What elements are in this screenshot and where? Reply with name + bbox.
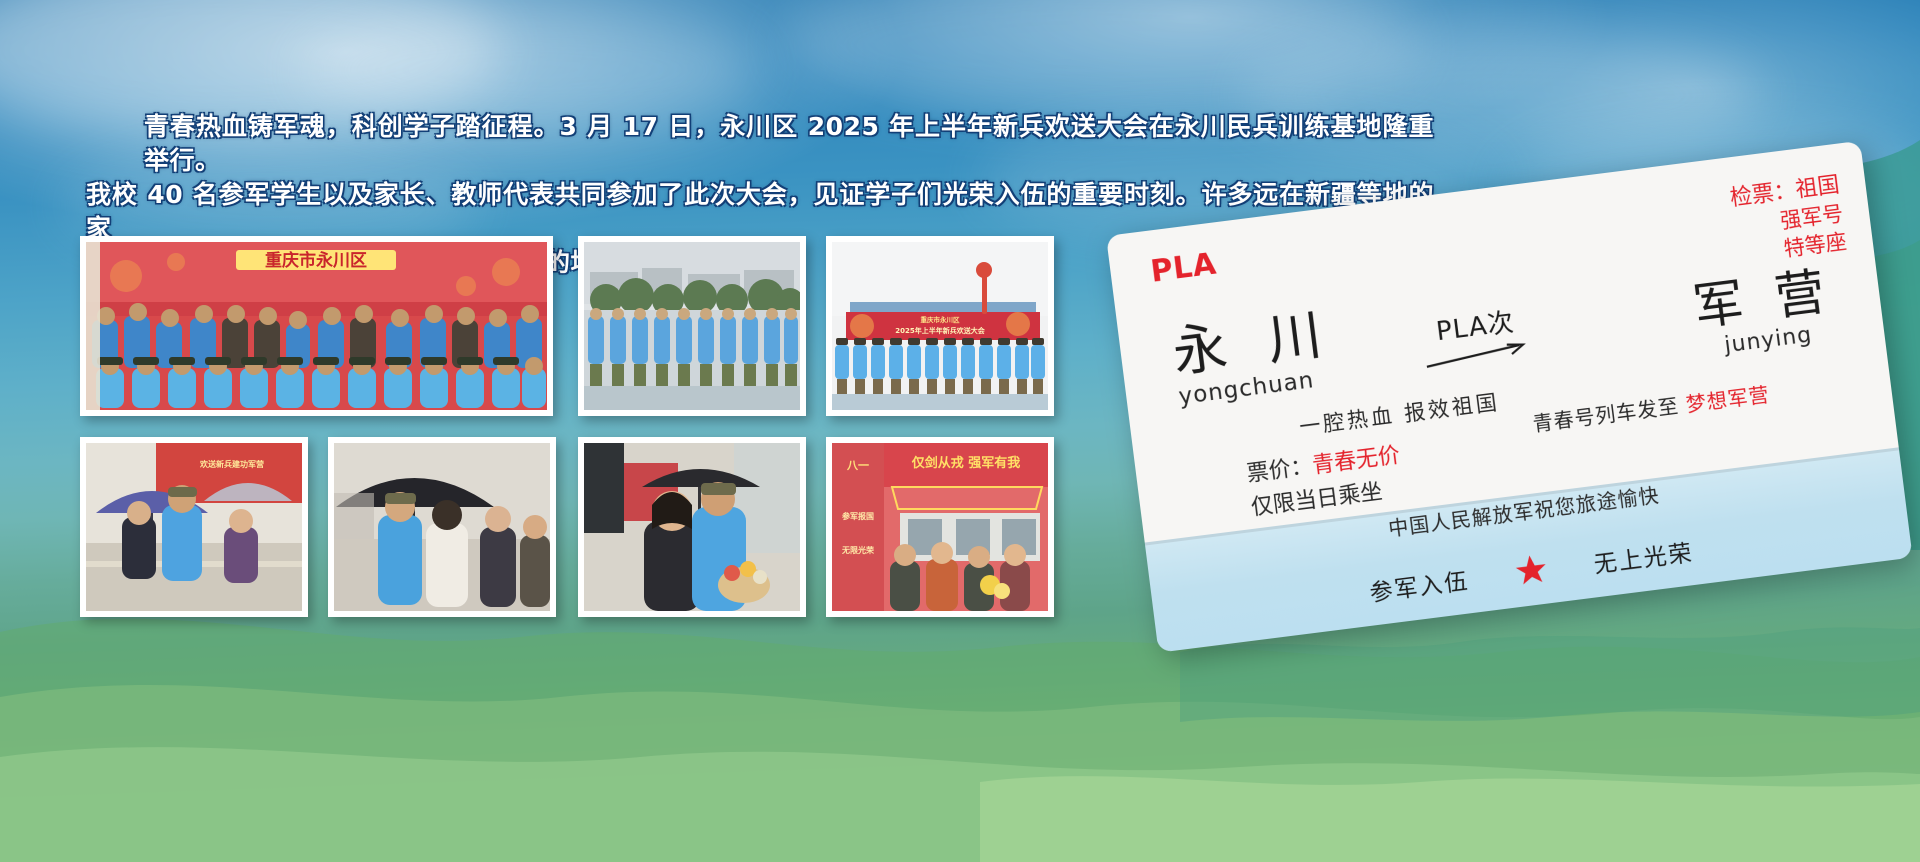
photo-couple-embrace[interactable] [578,437,806,617]
photo-farewell-blue-umbrella[interactable]: 欢送新兵建功军营 [80,437,308,617]
ticket-route-dest: 梦想军营 [1685,382,1771,416]
svg-text:2025年上半年新兵欢送大会: 2025年上半年新兵欢送大会 [895,326,985,335]
ticket-route-prefix: 青春号列车发至 [1531,394,1680,436]
svg-text:重庆市永川区: 重庆市永川区 [921,315,961,324]
ticket-price-label: 票价： [1245,454,1314,487]
red-star-icon [1512,551,1550,589]
photo-group-ceremony[interactable]: 重庆市永川区 [80,236,553,416]
svg-text:欢送新兵建功军营: 欢送新兵建功军营 [199,459,264,469]
ticket-destination-station: 军 营 junying [1690,264,1839,362]
photo-group-archway[interactable]: 八一 参军报国 无限光荣 仅剑从戎 强军有我 [826,437,1054,617]
headline-line-1: 青春热血铸军魂，科创学子踏征程。3 月 17 日，永川区 2025 年上半年新兵… [86,110,1434,178]
photo-recruit-formation-trees[interactable] [578,236,806,416]
photo-ceremony-stage[interactable]: 重庆市永川区 2025年上半年新兵欢送大会 [826,236,1054,416]
ticket-brand-pla: PLA [1149,247,1219,290]
ticket-check-info: 检票：祖国 强军号 特等座 [1729,172,1849,269]
photo-black-umbrella-group[interactable] [328,437,556,617]
svg-text:八一: 八一 [846,459,869,472]
ticket-slogan: 一腔热血 报效祖国 [1297,386,1501,441]
svg-text:仅剑从戎 强军有我: 仅剑从戎 强军有我 [911,455,1021,471]
svg-text:重庆市永川区: 重庆市永川区 [265,250,367,271]
poster-canvas: 青春热血铸军魂，科创学子踏征程。3 月 17 日，永川区 2025 年上半年新兵… [0,0,1920,862]
svg-text:无限光荣: 无限光荣 [841,545,874,555]
ticket-price-value: 青春无价 [1311,443,1401,479]
ticket-train-number: PLA次 [1418,300,1535,374]
ticket-route-line: 青春号列车发至 梦想军营 [1531,378,1771,437]
ticket-origin-station: 永 川 yongchuan [1170,305,1341,411]
svg-text:参军报国: 参军报国 [841,511,874,521]
